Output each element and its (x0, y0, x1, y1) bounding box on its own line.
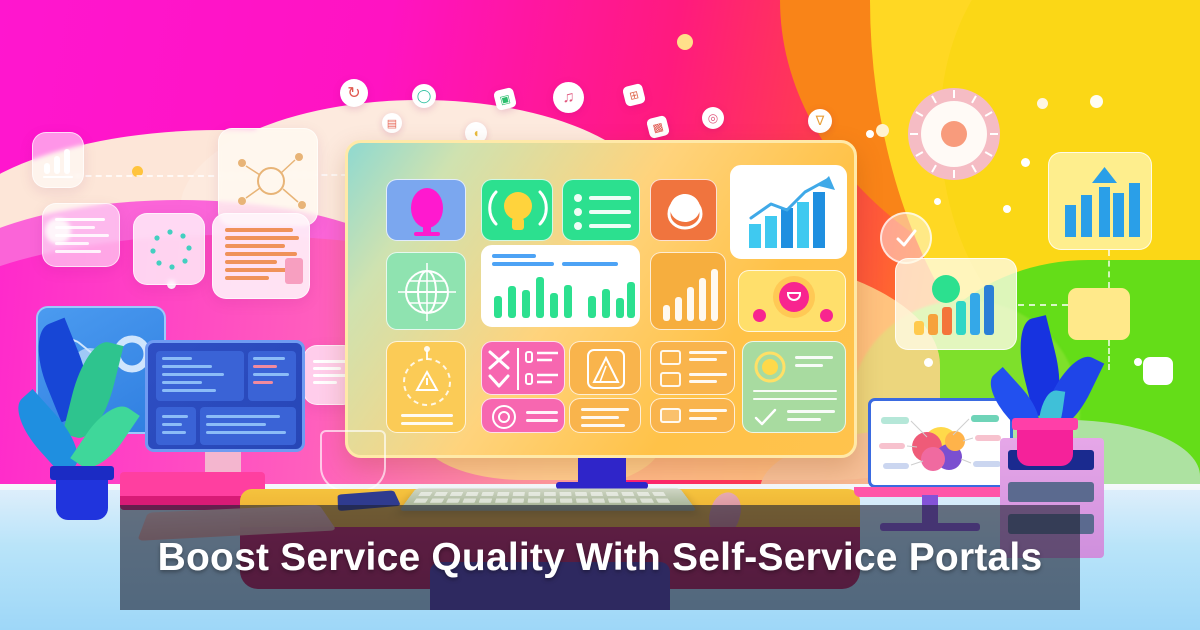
text-line (787, 410, 835, 413)
code-line (162, 423, 182, 426)
dashed-connector (1108, 340, 1110, 370)
sprinkle-dot (1003, 205, 1011, 213)
text-line (313, 374, 349, 377)
chart-bar (687, 287, 694, 321)
gauge-tick (953, 90, 955, 98)
globe-target-tile[interactable] (386, 252, 466, 330)
thumbnail (660, 372, 681, 387)
code-line (162, 365, 212, 368)
resolved-tile[interactable] (742, 341, 846, 433)
alert-gauge-tile[interactable] (386, 341, 466, 433)
network-node-card[interactable] (218, 128, 318, 226)
laptop-mindmap[interactable] (868, 398, 1013, 488)
chart-bar (536, 277, 544, 318)
text-line (581, 416, 619, 419)
key (511, 498, 524, 502)
text-line (401, 422, 453, 425)
text-line (581, 408, 629, 411)
divider (753, 390, 837, 392)
monitor-neck (578, 458, 626, 484)
key (606, 492, 619, 496)
monitor-panel (156, 407, 196, 445)
gauge-tick (971, 95, 977, 103)
list-line (589, 224, 631, 228)
metrics-tile[interactable] (650, 252, 726, 330)
key (637, 492, 651, 496)
list-line (589, 196, 631, 200)
report-line (225, 252, 297, 256)
main-monitor[interactable] (345, 140, 857, 458)
support-tile[interactable] (650, 179, 717, 241)
key (450, 492, 464, 496)
sprinkle-dot (1021, 158, 1030, 167)
text-line (526, 419, 558, 422)
drawer[interactable] (1008, 482, 1094, 502)
header-line (492, 254, 536, 258)
page-title: Boost Service Quality With Self-Service … (158, 535, 1043, 581)
report-doc-card[interactable] (212, 213, 310, 299)
gauge-tick (990, 133, 998, 135)
text-line (313, 360, 347, 363)
text-line (689, 380, 717, 383)
gauge-tick (985, 151, 993, 157)
text-lines-card[interactable] (42, 203, 120, 267)
key (575, 492, 587, 496)
gauge-tick (910, 133, 918, 135)
bar-chart-up-icon (1049, 153, 1153, 251)
poster-canvas: ↻ ▤ ◯ ◖ ▣ ♫ ⊞ ▩ ◎ ∇ (0, 0, 1200, 630)
text-line (401, 414, 453, 417)
gauge-tick (915, 111, 923, 117)
white-placeholder-square (1143, 357, 1173, 385)
chart-bar (564, 285, 572, 318)
code-line (162, 389, 216, 392)
sprinkle-dot (924, 358, 933, 367)
mindmap-icon (871, 401, 1010, 485)
filter-bubble[interactable]: ∇ (808, 109, 832, 133)
report-line (225, 236, 299, 240)
bullet (574, 222, 582, 230)
microphone-icon (387, 180, 466, 241)
growth-chart-tile[interactable] (730, 165, 847, 259)
bar (54, 156, 60, 174)
text-line (55, 250, 101, 253)
chart-bar (663, 305, 670, 321)
text-line (689, 351, 727, 354)
key (624, 498, 638, 502)
clock-note-tile[interactable] (481, 398, 565, 433)
gauge-core (941, 121, 967, 147)
report-line (225, 276, 269, 280)
ticket-list-tile[interactable] (650, 341, 735, 395)
text-line (689, 417, 717, 420)
ticket-list-tile-2[interactable] (650, 398, 735, 433)
baseline (43, 176, 73, 178)
key (544, 498, 556, 502)
report-line (225, 260, 277, 264)
key (640, 498, 654, 502)
chart-doc-icon (570, 342, 641, 395)
key (656, 498, 671, 502)
text-line (787, 418, 821, 421)
list-line (589, 210, 631, 214)
text-line (689, 358, 717, 361)
music-bubble[interactable]: ♫ (553, 82, 584, 113)
check-icon (891, 223, 921, 253)
record-bubble[interactable]: ◯ (412, 84, 436, 108)
chart-bar (711, 269, 718, 321)
key (544, 492, 556, 496)
lightbulb-icon (482, 180, 553, 241)
voice-assistant-tile[interactable] (386, 179, 466, 241)
bar (44, 163, 50, 174)
gauge-tick (985, 111, 993, 117)
key (592, 498, 605, 502)
success-check (880, 212, 932, 264)
divider (753, 398, 837, 400)
gauge-inner (921, 101, 987, 167)
code-line (206, 431, 286, 434)
gauge-tick (971, 165, 977, 173)
key (495, 498, 508, 502)
globe-icon (387, 253, 466, 330)
bar-chart-card[interactable] (32, 132, 84, 188)
bullet (574, 208, 582, 216)
key (576, 498, 589, 502)
report-line (225, 268, 291, 272)
plant-pot-rim (1012, 418, 1078, 430)
chart-bar (550, 293, 558, 318)
text-line (55, 242, 89, 245)
thumbnail (660, 408, 681, 423)
report-line (225, 228, 293, 232)
chart-bar (508, 286, 516, 318)
key (652, 492, 666, 496)
key (590, 492, 603, 496)
monitor-neck (205, 452, 241, 474)
monitor-panel (200, 407, 296, 445)
key (434, 492, 448, 496)
text-line (795, 356, 833, 359)
key (621, 492, 634, 496)
key (462, 498, 476, 502)
gauge-tick (931, 165, 937, 173)
dashboard-grid (362, 157, 840, 441)
chart-bar (602, 289, 610, 318)
header-line (562, 262, 618, 266)
header-line (492, 262, 554, 266)
dot-left (753, 309, 766, 322)
analytics-panel-tile[interactable] (481, 245, 640, 327)
check-badge-icon (753, 350, 787, 384)
wire-basket (320, 430, 386, 492)
chart-bar (699, 278, 706, 321)
key (560, 498, 573, 502)
code-line (253, 357, 285, 360)
chart-bar (675, 297, 682, 321)
warning-gauge-icon (387, 342, 466, 433)
sprinkle-dot (1134, 358, 1142, 366)
report-line (225, 244, 285, 248)
chart-bar (494, 296, 502, 318)
chart-bar (522, 290, 530, 318)
text-line (581, 424, 625, 427)
bar-chart-up-icon (731, 166, 847, 259)
key (430, 498, 445, 502)
dot-right (820, 309, 833, 322)
code-line (162, 431, 186, 434)
code-line (253, 381, 273, 384)
key (418, 492, 432, 496)
compare-tile[interactable] (481, 341, 565, 395)
bar (64, 149, 70, 174)
bar-chart-icon (896, 259, 1018, 351)
thumbnail (660, 350, 681, 365)
tasklist-tile[interactable] (562, 179, 640, 241)
headset-icon (651, 180, 717, 241)
report-tile[interactable] (569, 341, 641, 395)
chart-bar (616, 298, 624, 318)
key (513, 492, 525, 496)
spinner-icon (134, 214, 206, 286)
kpi-bar-chart-card[interactable] (895, 258, 1017, 350)
text-line (313, 367, 341, 370)
code-line (162, 373, 224, 376)
report-lines-tile[interactable] (569, 398, 641, 433)
gauge-tick (953, 170, 955, 178)
key (497, 492, 510, 496)
key (560, 492, 572, 496)
text-line (689, 409, 727, 412)
gauge-tick (931, 95, 937, 103)
text-line (689, 373, 727, 376)
key (481, 492, 494, 496)
yellow-placeholder-square (1068, 288, 1130, 340)
code-line (253, 373, 289, 376)
user-profile-tile[interactable] (738, 270, 846, 332)
sprinkle-dot (1090, 95, 1103, 108)
report-highlight (285, 258, 303, 284)
clock-icon (488, 401, 520, 433)
text-line (795, 364, 823, 367)
text-line (55, 234, 109, 237)
check-icon (753, 406, 779, 428)
code-line (253, 365, 277, 368)
refresh-bubble[interactable]: ↻ (340, 79, 368, 107)
code-line (162, 415, 188, 418)
code-line (162, 381, 202, 384)
text-line (313, 381, 337, 384)
title-overlay-band: Boost Service Quality With Self-Service … (120, 505, 1080, 610)
bullet (574, 194, 582, 202)
dashed-connector (1018, 304, 1068, 306)
code-monitor[interactable] (145, 340, 305, 452)
chart-bar (588, 296, 596, 318)
key (413, 498, 428, 502)
code-line (206, 415, 280, 418)
code-line (206, 423, 266, 426)
target-bubble[interactable]: ◎ (702, 107, 724, 129)
key (465, 492, 478, 496)
text-line (55, 218, 105, 221)
dashed-connector (1108, 250, 1110, 288)
text-line (55, 226, 95, 229)
code-line (162, 357, 192, 360)
text-line (526, 411, 558, 414)
sprinkle-dot (934, 198, 941, 205)
sprinkle-dot (876, 124, 889, 137)
plant-pot-rim (50, 466, 114, 480)
key (479, 498, 493, 502)
sprinkle-dot (677, 34, 693, 50)
plant-pot (1017, 424, 1073, 466)
growth-arrow-card[interactable] (1048, 152, 1152, 250)
progress-gauge (908, 88, 1000, 180)
sprinkle-dot (1037, 98, 1048, 109)
key (528, 492, 540, 496)
idea-tile[interactable] (481, 179, 553, 241)
key (608, 498, 622, 502)
loading-spinner-card[interactable] (133, 213, 205, 285)
sprinkle-dot (866, 130, 874, 138)
shuffle-icon (482, 342, 565, 395)
gauge-tick (915, 151, 923, 157)
chart-bar (627, 282, 635, 318)
key (446, 498, 460, 502)
chat-bubble[interactable]: ▤ (382, 113, 402, 133)
key (528, 498, 540, 502)
